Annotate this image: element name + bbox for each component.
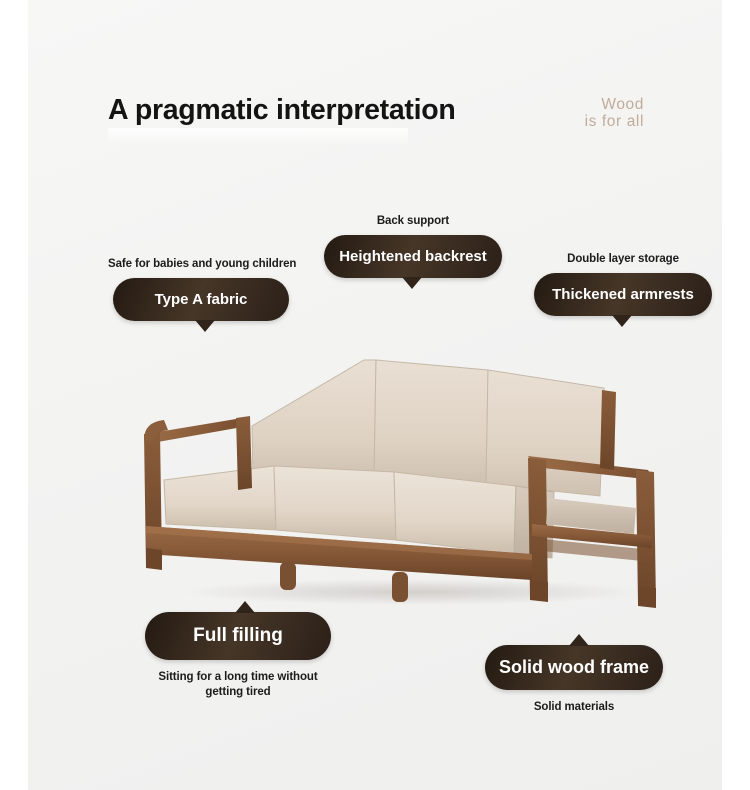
callout-armrest-pill[interactable]: Thickened armrests [534,273,712,316]
back-cushion-left [252,360,376,480]
callout-filling-pill[interactable]: Full filling [145,612,331,660]
callout-filling-label: Full filling [193,625,283,646]
callout-backrest[interactable]: Back support Heightened backrest [318,215,508,278]
back-cushion-center [374,360,488,484]
callout-tail-up-icon [569,634,589,646]
page-title: A pragmatic interpretation [108,94,455,127]
headline-sheen [108,128,408,144]
armrest-left-post-rear [236,416,252,490]
callout-backrest-label: Heightened backrest [339,248,487,265]
callout-armrest[interactable]: Double layer storage Thickened armrests [528,253,718,316]
product-marketing-page: A pragmatic interpretation Wood is for a… [0,0,750,790]
seat-cushion-center [274,466,396,540]
callout-tail-down-icon [195,320,215,332]
leg-rear-right [638,586,656,608]
callout-backrest-caption: Back support [318,215,508,227]
center-leg-1 [280,562,296,590]
center-leg-2 [392,572,408,602]
callout-fabric[interactable]: Safe for babies and young children Type … [108,258,294,321]
sofa-product-image [124,348,684,610]
callout-filling-caption: Sitting for a long time without getting … [140,670,336,700]
callout-frame-pill[interactable]: Solid wood frame [485,645,663,690]
leg-front-left [146,548,162,570]
callout-tail-down-icon [612,315,632,327]
callout-backrest-pill[interactable]: Heightened backrest [324,235,502,278]
callout-frame[interactable]: Solid wood frame Solid materials [480,645,668,713]
callout-tail-up-icon [235,601,255,613]
callout-fabric-pill[interactable]: Type A fabric [113,278,289,321]
callout-frame-caption: Solid materials [480,701,668,713]
callout-armrest-caption: Double layer storage [528,253,718,265]
leg-front-right [530,580,548,602]
callout-fabric-label: Type A fabric [155,291,248,308]
brand-tagline-line1: Wood [585,96,644,113]
armrest-right-back-panel [600,390,616,470]
callout-armrest-label: Thickened armrests [552,286,694,303]
brand-tagline-line2: is for all [585,113,644,130]
callout-tail-down-icon [402,277,422,289]
seat-cushion-right [394,472,516,554]
callout-frame-label: Solid wood frame [499,657,649,677]
callout-fabric-caption: Safe for babies and young children [108,258,294,270]
seat-cushion-left [164,466,276,530]
brand-tagline: Wood is for all [585,96,644,130]
product-canvas: A pragmatic interpretation Wood is for a… [28,0,722,790]
callout-filling[interactable]: Full filling Sitting for a long time wit… [140,612,336,700]
